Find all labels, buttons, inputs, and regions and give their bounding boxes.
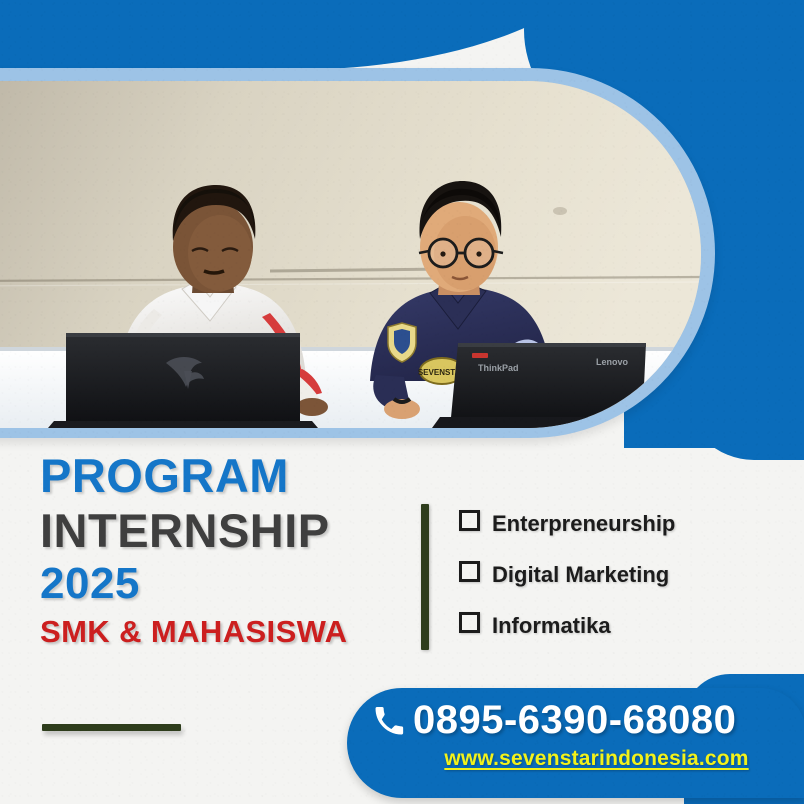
hero-photo: SEVENSTAR xyxy=(0,81,701,428)
list-item: Digital Marketing xyxy=(459,561,675,586)
headline-internship: INTERNSHIP xyxy=(40,507,347,554)
accent-rule xyxy=(42,724,181,731)
headline-program: PROGRAM xyxy=(40,452,347,499)
website-url[interactable]: www.sevenstarindonesia.com xyxy=(373,747,792,771)
svg-text:ThinkPad: ThinkPad xyxy=(478,363,519,373)
headline-audience: SMK & MAHASISWA xyxy=(40,616,347,647)
program-label: Enterpreneurship xyxy=(492,513,675,535)
students-at-laptops-illustration: SEVENSTAR xyxy=(0,81,701,428)
headline-block: PROGRAM INTERNSHIP 2025 SMK & MAHASISWA xyxy=(40,452,347,647)
program-list-items: Enterpreneurship Digital Marketing Infor… xyxy=(459,510,675,637)
contact-bar: 0895-6390-68080 www.sevenstarindonesia.c… xyxy=(347,688,804,798)
svg-text:Lenovo: Lenovo xyxy=(596,357,629,367)
checkbox-icon xyxy=(459,510,480,531)
program-list: Enterpreneurship Digital Marketing Infor… xyxy=(421,504,675,650)
phone-row: 0895-6390-68080 xyxy=(373,700,792,740)
contact-inner: 0895-6390-68080 www.sevenstarindonesia.c… xyxy=(373,700,792,771)
program-list-divider xyxy=(421,504,429,650)
checkbox-icon xyxy=(459,561,480,582)
headline-year: 2025 xyxy=(40,562,347,606)
hero-photo-frame: SEVENSTAR xyxy=(0,68,715,438)
laptop-left xyxy=(48,333,318,428)
program-label: Digital Marketing xyxy=(492,564,669,586)
checkbox-icon xyxy=(459,612,480,633)
list-item: Enterpreneurship xyxy=(459,510,675,535)
list-item: Informatika xyxy=(459,612,675,637)
poster-canvas: SEVENSTAR xyxy=(0,0,804,804)
phone-number[interactable]: 0895-6390-68080 xyxy=(413,700,736,740)
phone-handset-icon xyxy=(373,705,405,737)
program-label: Informatika xyxy=(492,615,611,637)
